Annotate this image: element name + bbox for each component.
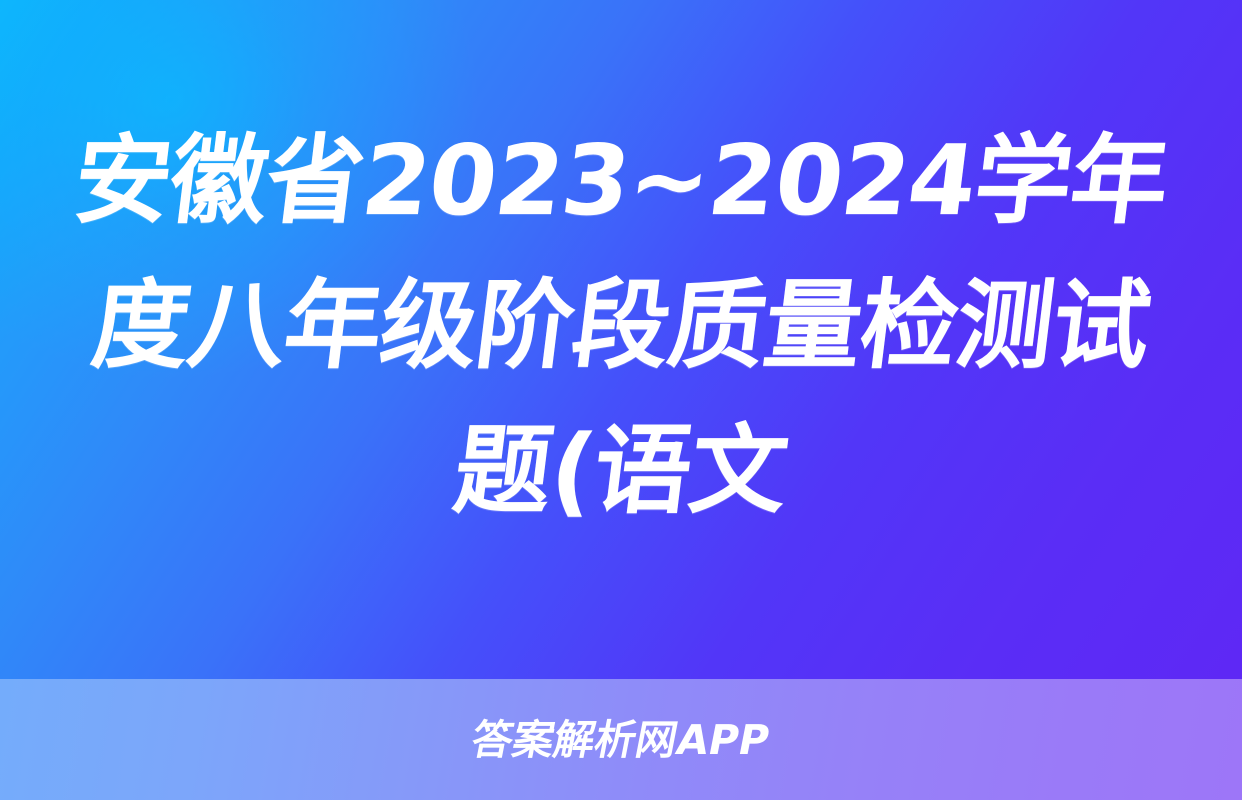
exam-title-block: 安徽省2023~2024学年 度八年级阶段质量检测试 题(语文	[0, 0, 1242, 679]
exam-title-line-1: 安徽省2023~2024学年	[66, 108, 1176, 253]
exam-title-card: 安徽省2023~2024学年 度八年级阶段质量检测试 题(语文 答案解析网APP	[0, 0, 1242, 800]
app-watermark-label: 答案解析网APP	[468, 720, 773, 761]
exam-title-line-3: 题(语文	[446, 398, 795, 543]
exam-title-line-2: 度八年级阶段质量检测试	[84, 253, 1158, 398]
watermark-band: 答案解析网APP	[0, 679, 1242, 800]
